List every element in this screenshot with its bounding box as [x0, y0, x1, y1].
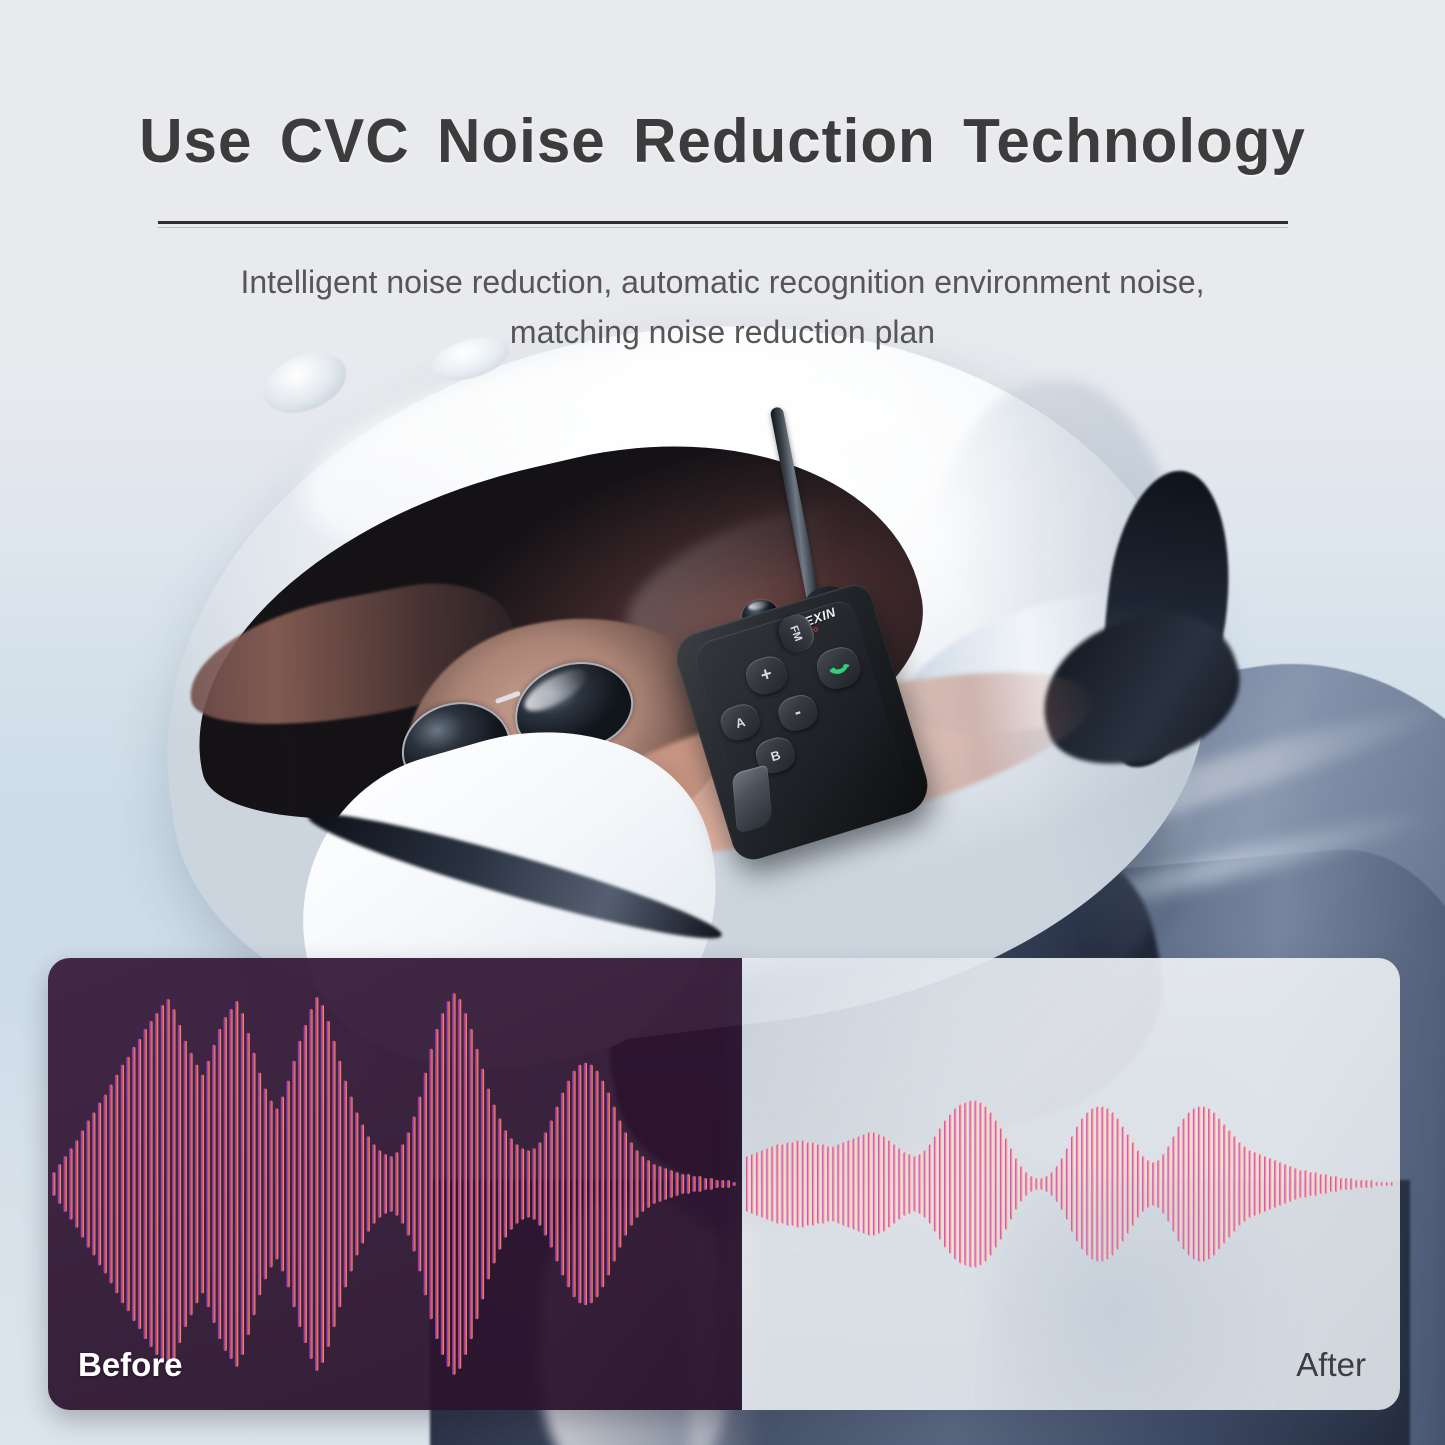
after-label: After — [1296, 1346, 1366, 1384]
subtitle-line-1: Intelligent noise reduction, automatic r… — [0, 258, 1445, 308]
page-title: Use CVC Noise Reduction Technology — [22, 106, 1424, 177]
before-waveform-svg — [48, 958, 742, 1410]
after-panel: After — [742, 958, 1400, 1410]
phone-icon — [824, 653, 854, 683]
device-mount-slot — [732, 764, 773, 833]
divider-line-secondary — [158, 227, 1288, 228]
before-waveform — [48, 958, 742, 1410]
before-after-comparison: Before After — [48, 958, 1400, 1410]
after-waveform-svg — [742, 958, 1400, 1410]
subtitle: Intelligent noise reduction, automatic r… — [0, 258, 1445, 357]
divider-line-primary — [158, 221, 1288, 224]
before-label: Before — [78, 1346, 183, 1384]
subtitle-line-2: matching noise reduction plan — [0, 308, 1445, 358]
title-divider — [158, 221, 1288, 228]
before-panel: Before — [48, 958, 742, 1410]
after-waveform — [742, 958, 1400, 1410]
header-section: Use CVC Noise Reduction Technology Intel… — [0, 0, 1445, 357]
